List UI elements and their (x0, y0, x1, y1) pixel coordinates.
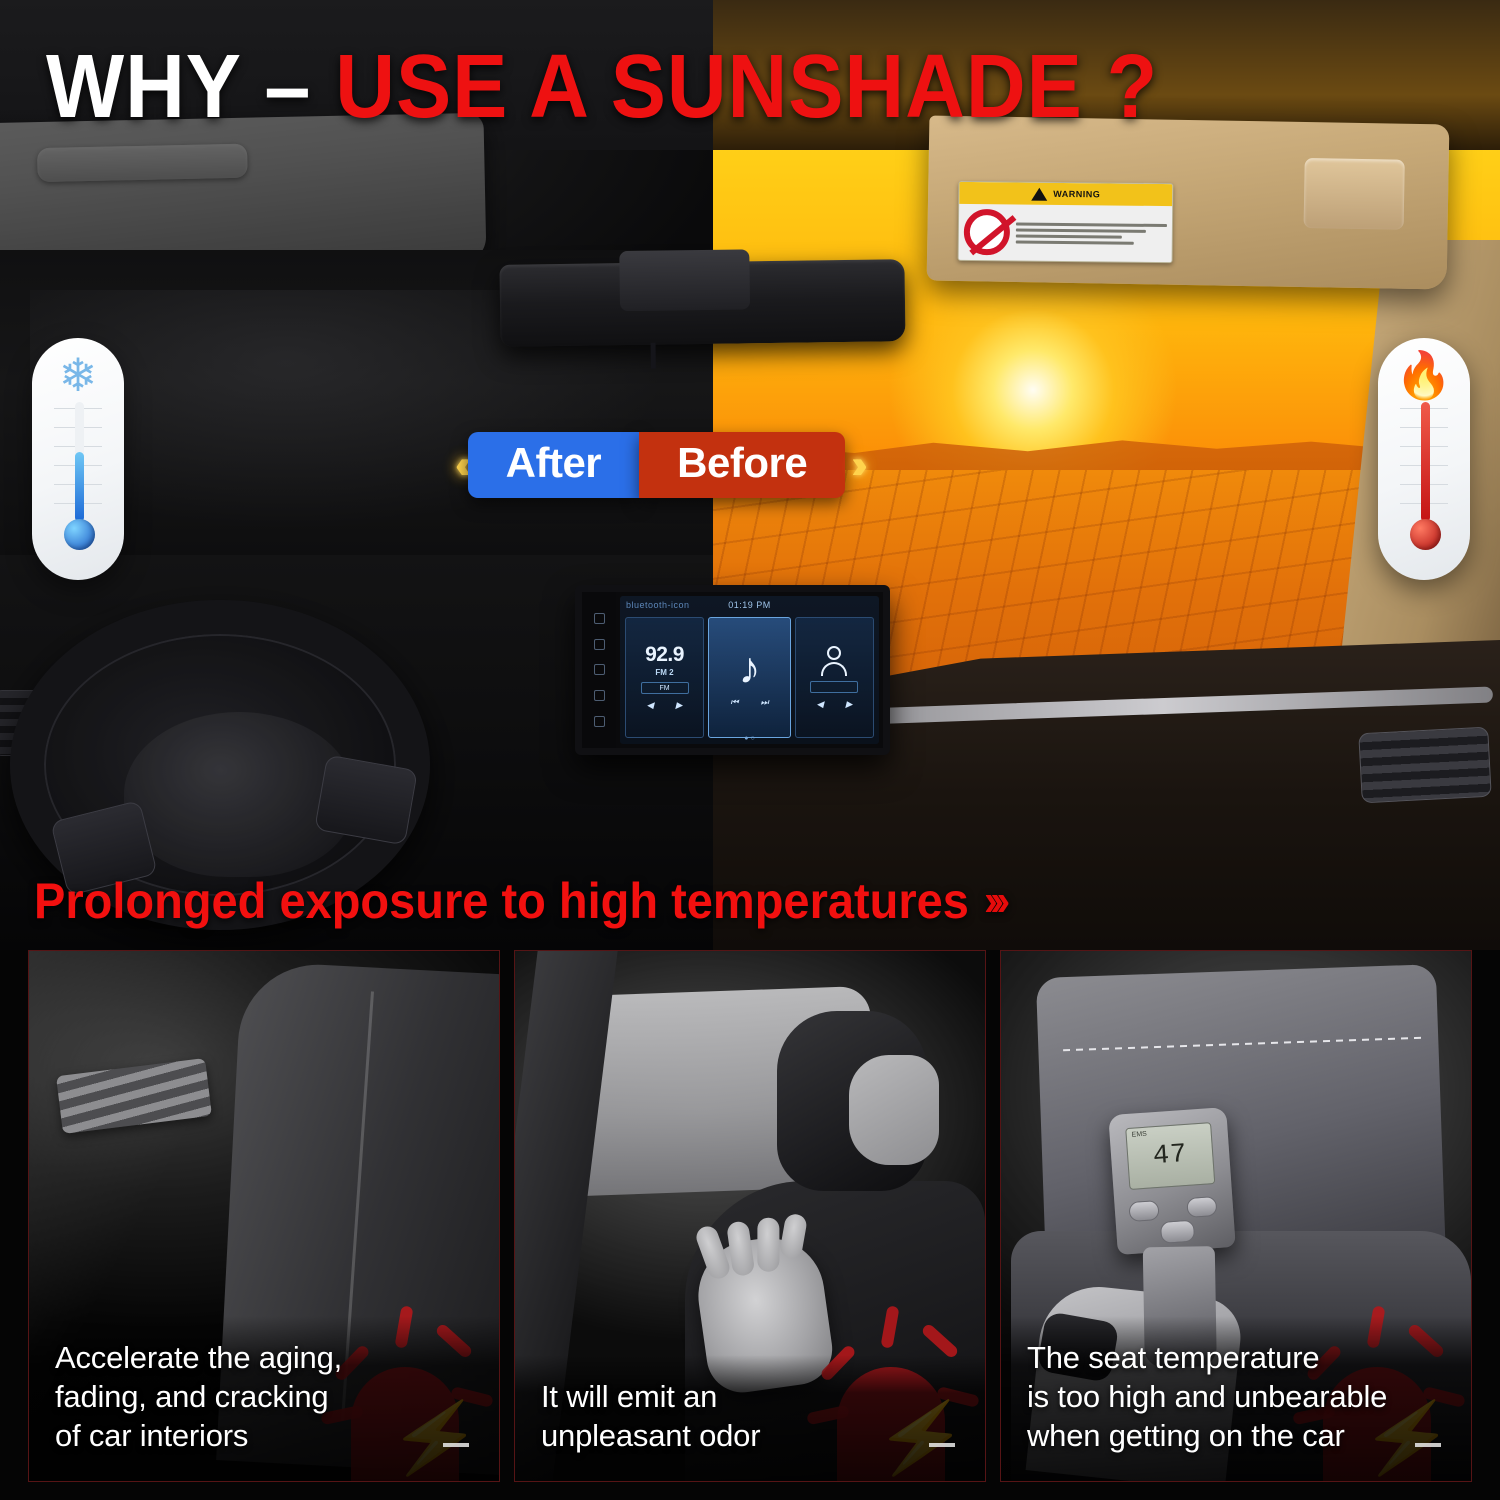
caption-dash (1415, 1443, 1441, 1447)
warning-label-lines (1016, 222, 1167, 245)
caption-line-2: is too high and unbearable (1027, 1377, 1445, 1416)
seat-level[interactable] (810, 681, 858, 693)
media-next-icon[interactable]: ⏭ (761, 697, 769, 708)
panel-caption: It will emit an unpleasant odor (515, 1355, 985, 1481)
panel-seat-temperature: EMS 47 ⚡ The seat temperature is too hig… (1000, 950, 1472, 1482)
thermometer-tube-cold (75, 402, 84, 522)
device-button-2[interactable] (1186, 1196, 1217, 1218)
radio-card[interactable]: 92.9 FM 2 FM ◀ ▶ (625, 617, 704, 738)
next-icon[interactable]: ▶ (676, 700, 683, 711)
infotainment-statusbar: bluetooth-icon 01:19 PM (620, 596, 879, 613)
caption-line-3: when getting on the car (1027, 1416, 1445, 1455)
thermometer-fill-cold (75, 452, 84, 522)
infotainment-display: bluetooth-icon 01:19 PM 92.9 FM 2 FM ◀ ▶ (620, 596, 879, 744)
warning-label-header: WARNING (959, 182, 1172, 206)
before-label[interactable]: Before (639, 432, 845, 498)
bluetooth-icon: bluetooth-icon (626, 600, 690, 610)
radio-band: FM 2 (655, 668, 673, 677)
thermometer-fill-hot (1421, 402, 1430, 522)
warning-label-text: WARNING (1053, 189, 1100, 199)
volume-icon[interactable] (594, 664, 605, 675)
home-icon[interactable] (594, 639, 605, 650)
thermometer-tube-hot (1421, 402, 1430, 522)
chevrons-right-icon: ››› (984, 876, 1003, 926)
no-child-seat-icon (964, 209, 1010, 255)
infographic-poster: WARNING (0, 0, 1500, 1500)
radio-nav[interactable]: ◀ ▶ (647, 700, 683, 711)
caption-line-2: fading, and cracking (55, 1377, 473, 1416)
subheading-text: Prolonged exposure to high temperatures (34, 872, 969, 930)
infotainment-screen: bluetooth-icon 01:19 PM 92.9 FM 2 FM ◀ ▶ (575, 585, 890, 755)
plus-icon[interactable] (594, 690, 605, 701)
radio-preset[interactable]: FM (641, 682, 689, 694)
warning-label-body (959, 204, 1173, 262)
air-vent-right (1358, 727, 1491, 804)
device-button-1[interactable] (1128, 1200, 1159, 1222)
panel-caption: Accelerate the aging, fading, and cracki… (29, 1316, 499, 1481)
consequence-panels: ⚡ Accelerate the aging, fading, and crac… (0, 950, 1500, 1500)
media-card[interactable]: ♪ ⏮ ⏭ (708, 617, 791, 738)
visor-warning-label: WARNING (958, 181, 1174, 263)
seat-next-icon[interactable]: ▶ (845, 699, 852, 710)
person-seat-icon (821, 646, 847, 676)
media-nav[interactable]: ⏮ ⏭ (730, 697, 768, 708)
cold-thermometer: ❄ (32, 338, 124, 580)
infotainment-side-buttons[interactable] (582, 592, 616, 748)
snowflake-icon: ❄ (32, 348, 124, 402)
hero-before-after-comparison: WARNING (0, 0, 1500, 950)
caption-dash (443, 1443, 469, 1447)
power-icon[interactable] (594, 613, 605, 624)
chevron-left-icon: ‹‹ (455, 445, 462, 485)
page-title: WHY – USE A SUNSHADE ? (46, 36, 1158, 139)
before-after-toggle[interactable]: ‹‹ After Before ›› (455, 432, 858, 498)
thermometer-bulb-hot (1410, 519, 1441, 550)
thermometer-lcd: EMS 47 (1125, 1122, 1215, 1190)
caption-line-2: unpleasant odor (541, 1416, 959, 1455)
infrared-thermometer: EMS 47 (1108, 1107, 1235, 1255)
rearview-mirror (499, 259, 905, 347)
before-after-badge[interactable]: After Before (468, 432, 846, 498)
panel-unpleasant-odor: ⚡ It will emit an unpleasant odor (514, 950, 986, 1482)
chevron-right-icon: ›› (851, 445, 858, 485)
radio-frequency: 92.9 (645, 644, 684, 665)
after-label[interactable]: After (468, 432, 640, 498)
caption-line-1: It will emit an (541, 1377, 959, 1416)
title-white-part: WHY – (46, 37, 311, 137)
caption-line-1: Accelerate the aging, (55, 1338, 473, 1377)
flame-icon: 🔥 (1378, 348, 1470, 402)
lcd-mode-label: EMS (1131, 1131, 1147, 1139)
steering-button-right (314, 755, 418, 846)
caption-line-3: of car interiors (55, 1416, 473, 1455)
media-prev-icon[interactable]: ⏮ (730, 697, 738, 708)
man-face (849, 1055, 939, 1165)
minus-icon[interactable] (594, 716, 605, 727)
caption-dash (929, 1443, 955, 1447)
device-button-3[interactable] (1160, 1220, 1195, 1244)
panel-caption: The seat temperature is too high and unb… (1001, 1316, 1471, 1481)
seat-card[interactable]: ◀ ▶ (795, 617, 874, 738)
warning-triangle-icon (1031, 187, 1047, 200)
music-note-icon: ♪ (739, 647, 761, 691)
infotainment-cards: 92.9 FM 2 FM ◀ ▶ ♪ ⏮ ⏭ (620, 613, 879, 744)
subheading: Prolonged exposure to high temperatures … (34, 872, 1003, 930)
panel-interior-aging: ⚡ Accelerate the aging, fading, and crac… (28, 950, 500, 1482)
page-dots: ● ○ (620, 735, 879, 742)
seat-prev-icon[interactable]: ◀ (817, 699, 824, 710)
seat-nav[interactable]: ◀ ▶ (817, 699, 853, 710)
hot-thermometer: 🔥 (1378, 338, 1470, 580)
caption-line-1: The seat temperature (1027, 1338, 1445, 1377)
infotainment-clock: 01:19 PM (728, 600, 771, 610)
title-red-part: USE A SUNSHADE ? (335, 37, 1158, 137)
prev-icon[interactable]: ◀ (647, 700, 654, 711)
thermometer-bulb-cold (64, 519, 95, 550)
thermometer-reading: 47 (1152, 1141, 1188, 1170)
